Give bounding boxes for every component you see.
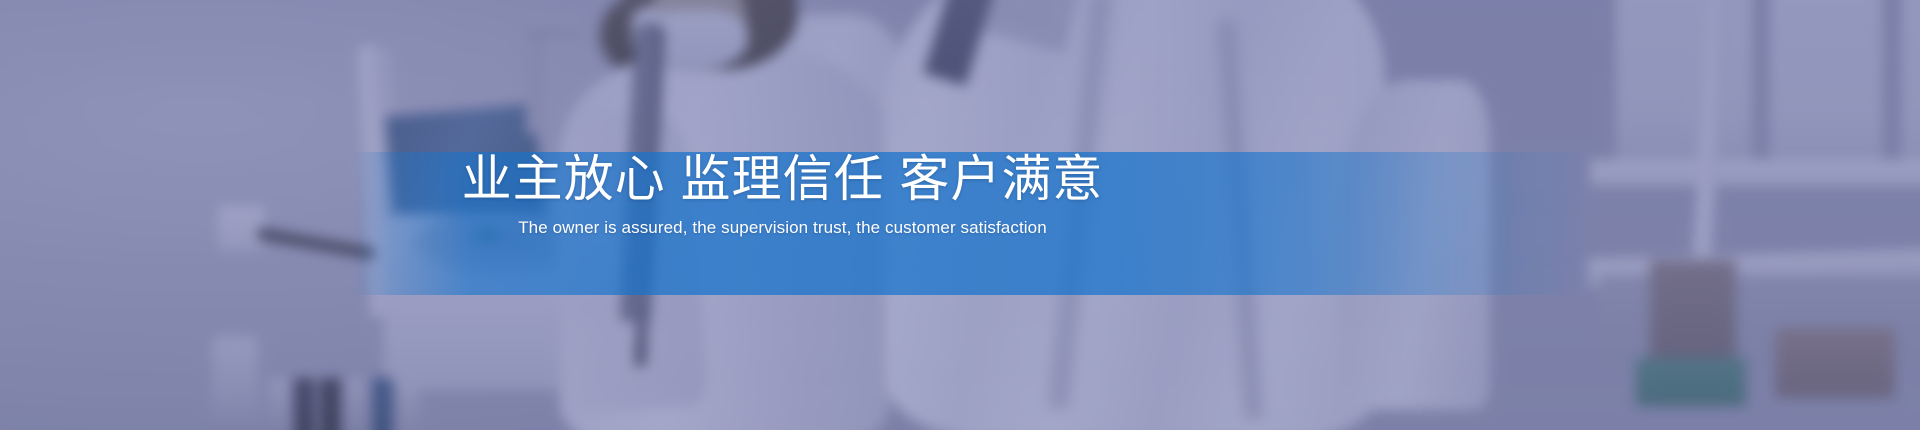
banner-subheadline: The owner is assured, the supervision tr… xyxy=(0,216,1565,240)
slogan-text-block: 业主放心 监理信任 客户满意 The owner is assured, the… xyxy=(0,148,1565,240)
banner-headline: 业主放心 监理信任 客户满意 xyxy=(0,148,1565,210)
hero-banner: 业主放心 监理信任 客户满意 The owner is assured, the… xyxy=(0,0,1920,430)
